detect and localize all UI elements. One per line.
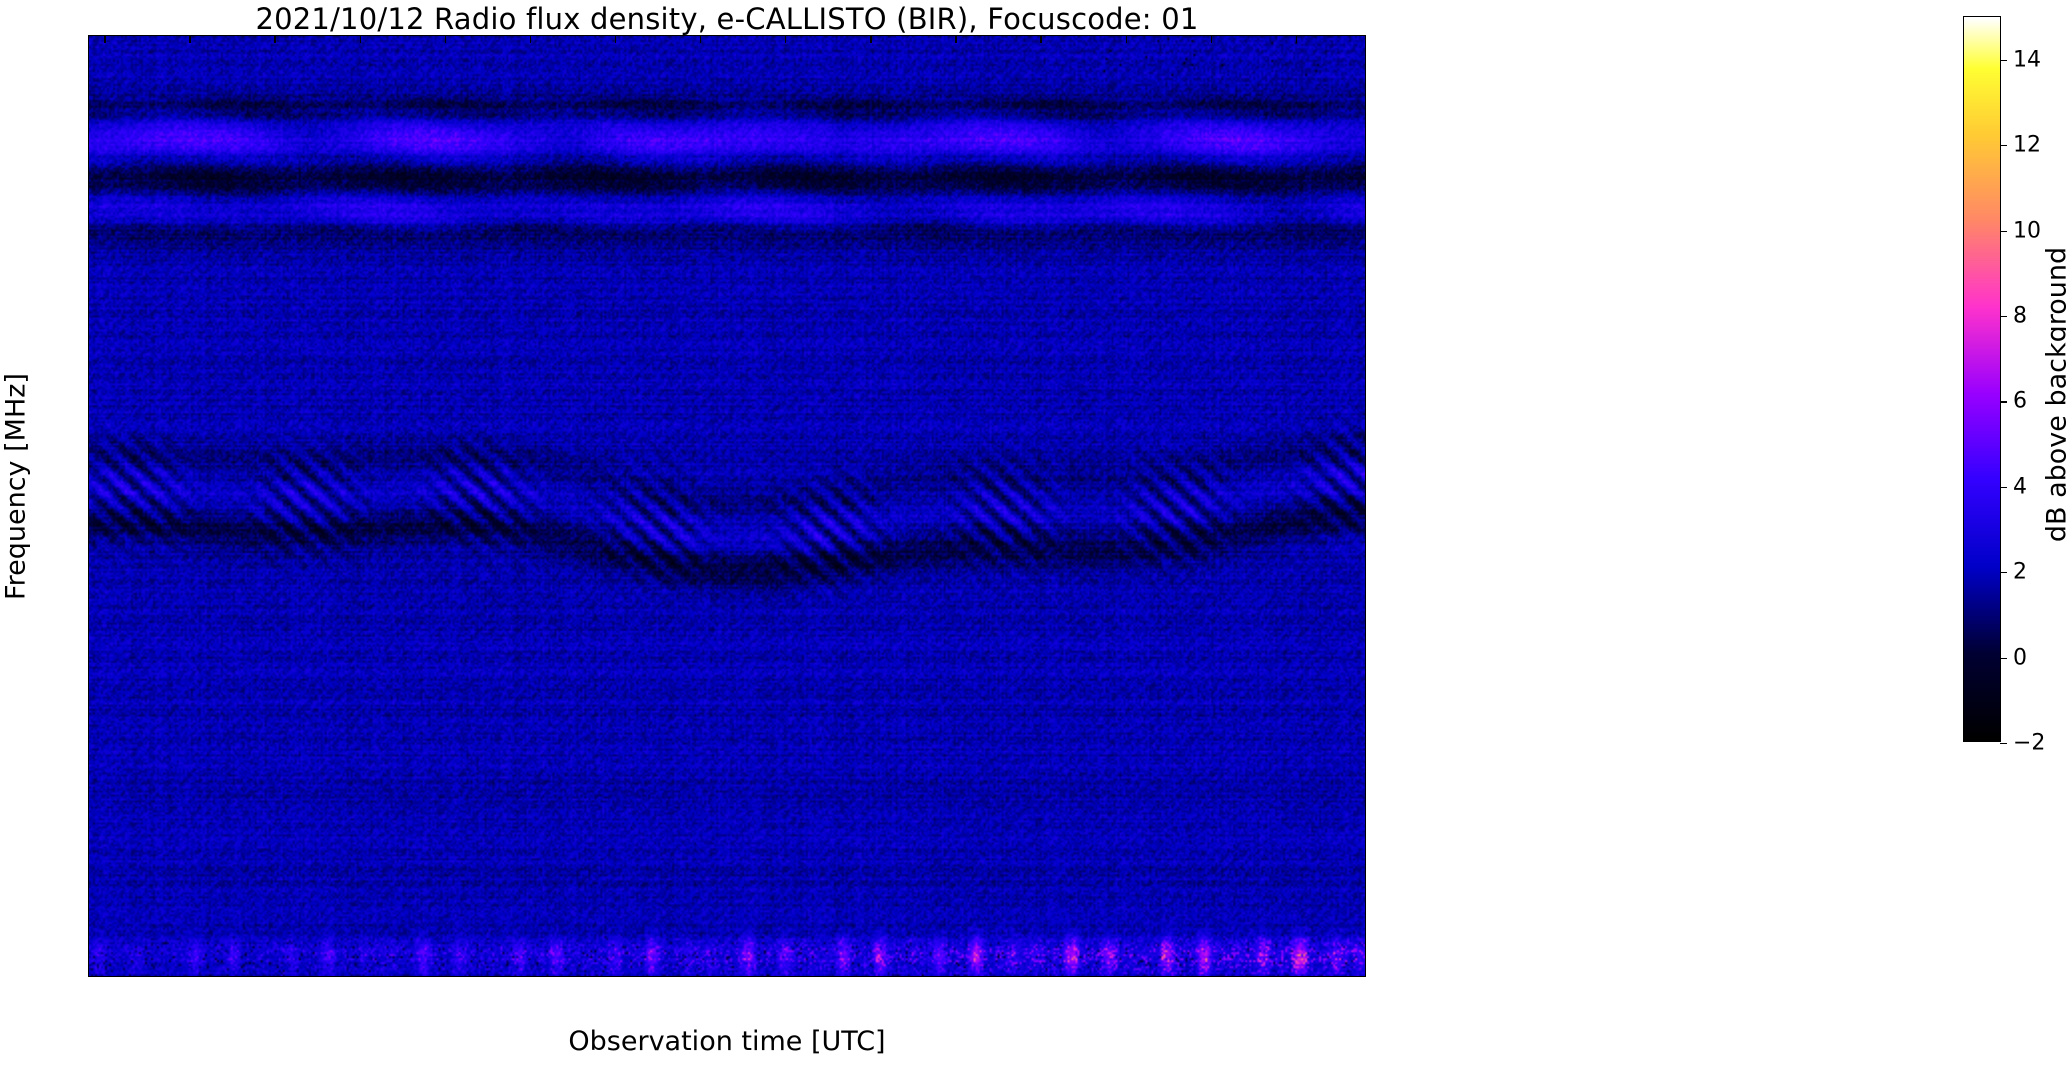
x-tick-label: 05:42	[1173, 976, 1248, 977]
x-tick-mark	[615, 36, 616, 43]
x-tick-label: 05:32	[322, 976, 397, 977]
plot-title: 2021/10/12 Radio flux density, e-CALLIST…	[88, 2, 1366, 36]
x-tick-label: 05:38	[833, 976, 908, 977]
x-tick-mark	[955, 36, 956, 43]
colorbar-tick-mark	[2000, 572, 2007, 573]
colorbar[interactable]: 14121086420−2	[1963, 16, 2001, 742]
y-tick-mark	[88, 87, 89, 88]
x-tick-mark	[104, 36, 105, 43]
colorbar-tick-mark	[2000, 145, 2007, 146]
colorbar-tick-mark	[2000, 231, 2007, 232]
x-tick-label: 05:34	[492, 976, 567, 977]
colorbar-tick-mark	[2000, 60, 2007, 61]
x-axis-label: Observation time [UTC]	[88, 1026, 1366, 1057]
spectrogram-image	[89, 36, 1365, 976]
x-tick-label: 05:33	[407, 976, 482, 977]
colorbar-tick-mark	[2000, 316, 2007, 317]
colorbar-gradient	[1964, 17, 2000, 741]
colorbar-label: dB above background	[2042, 32, 2066, 758]
x-tick-label: 05:37	[748, 976, 823, 977]
x-tick-mark	[1296, 36, 1297, 43]
x-tick-mark	[1211, 36, 1212, 43]
colorbar-tick-mark	[2000, 743, 2007, 744]
y-axis-label: Frequency [MHz]	[1, 16, 32, 958]
colorbar-tick-mark	[2000, 487, 2007, 488]
x-tick-label: 05:39	[918, 976, 993, 977]
x-tick-label: 05:36	[663, 976, 738, 977]
x-tick-label: 05:43	[1258, 976, 1333, 977]
x-tick-label: 05:41	[1088, 976, 1163, 977]
x-tick-mark	[1040, 36, 1041, 43]
x-tick-mark	[445, 36, 446, 43]
figure-canvas: 2021/10/12 Radio flux density, e-CALLIST…	[0, 0, 2066, 1067]
y-tick-mark	[88, 907, 89, 908]
y-tick-mark	[88, 702, 89, 703]
colorbar-tick-mark	[2000, 658, 2007, 659]
y-tick-mark	[88, 292, 89, 293]
x-tick-label: 05:35	[577, 976, 652, 977]
x-tick-label: 05:31	[237, 976, 312, 977]
x-tick-mark	[870, 36, 871, 43]
x-tick-label: 05:40	[1003, 976, 1078, 977]
x-tick-mark	[530, 36, 531, 43]
y-tick-mark	[88, 497, 89, 498]
x-tick-mark	[785, 36, 786, 43]
x-tick-label: 05:29	[88, 976, 142, 977]
x-tick-mark	[1126, 36, 1127, 43]
x-tick-mark	[700, 36, 701, 43]
x-tick-mark	[189, 36, 190, 43]
x-tick-mark	[274, 36, 275, 43]
x-tick-label: 05:30	[152, 976, 227, 977]
colorbar-tick-mark	[2000, 401, 2007, 402]
x-tick-mark	[360, 36, 361, 43]
spectrogram-axes[interactable]: 10080604020 05:2905:3005:3105:3205:3305:…	[88, 35, 1366, 977]
